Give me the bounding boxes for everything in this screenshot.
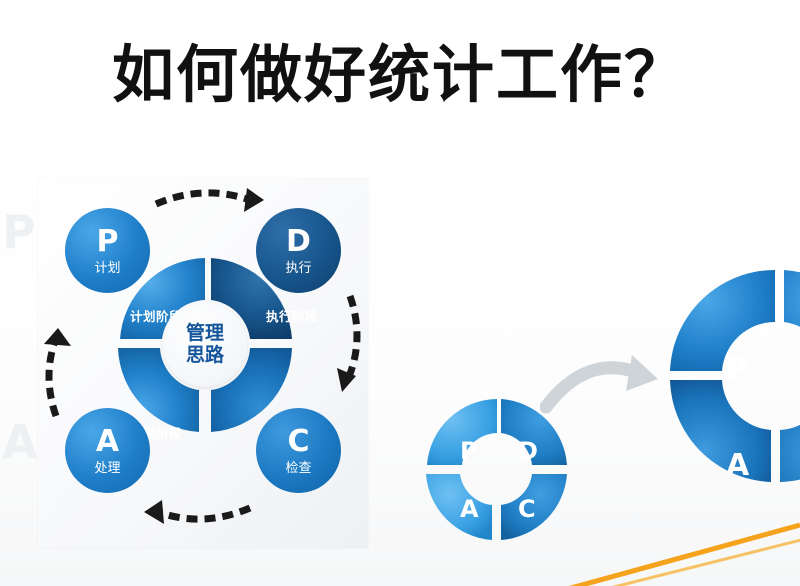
lobe-check-label: 检查 <box>285 462 311 475</box>
grey-curved-arrow-icon <box>540 345 670 435</box>
orange-streak-decoration <box>560 505 800 586</box>
small-donut-letter-p: P <box>460 437 478 465</box>
lobe-check-letter: C <box>287 427 309 457</box>
hub-line-2: 思路 <box>186 345 224 367</box>
pdca-cycle-diagram: 计划阶段 执行阶段 处理阶段 检查阶段 管理 思路 P 计划 D 执行 C 检查… <box>38 178 368 548</box>
ring-label-do: 执行阶段 <box>266 306 318 325</box>
lobe-check: C 检查 <box>256 408 341 493</box>
lobe-do: D 执行 <box>256 208 341 293</box>
pdca-hub: 管理 思路 <box>163 303 247 387</box>
lobe-plan-label: 计划 <box>94 262 120 275</box>
lobe-plan: P 计划 <box>65 208 150 293</box>
lobe-do-label: 执行 <box>285 262 311 275</box>
lobe-do-letter: D <box>286 227 311 257</box>
lobe-plan-letter: P <box>97 227 119 257</box>
small-donut-letter-d: D <box>518 437 538 465</box>
title-bar: 如何做好统计工作？ <box>0 0 800 150</box>
large-donut-letter-a: A <box>726 448 749 483</box>
lobe-act-label: 处理 <box>94 462 120 475</box>
ghost-letter-a: A <box>2 415 38 469</box>
lobe-act-letter: A <box>96 427 119 457</box>
ghost-letter-p: P <box>2 205 36 259</box>
illustration-stage: P A <box>0 150 800 586</box>
hub-line-1: 管理 <box>186 323 224 345</box>
small-donut-letter-c: C <box>518 495 536 523</box>
page-title: 如何做好统计工作？ <box>112 44 688 106</box>
large-donut-letter-p: P <box>726 352 748 387</box>
small-donut-letter-a: A <box>460 495 479 523</box>
lobe-act: A 处理 <box>65 408 150 493</box>
